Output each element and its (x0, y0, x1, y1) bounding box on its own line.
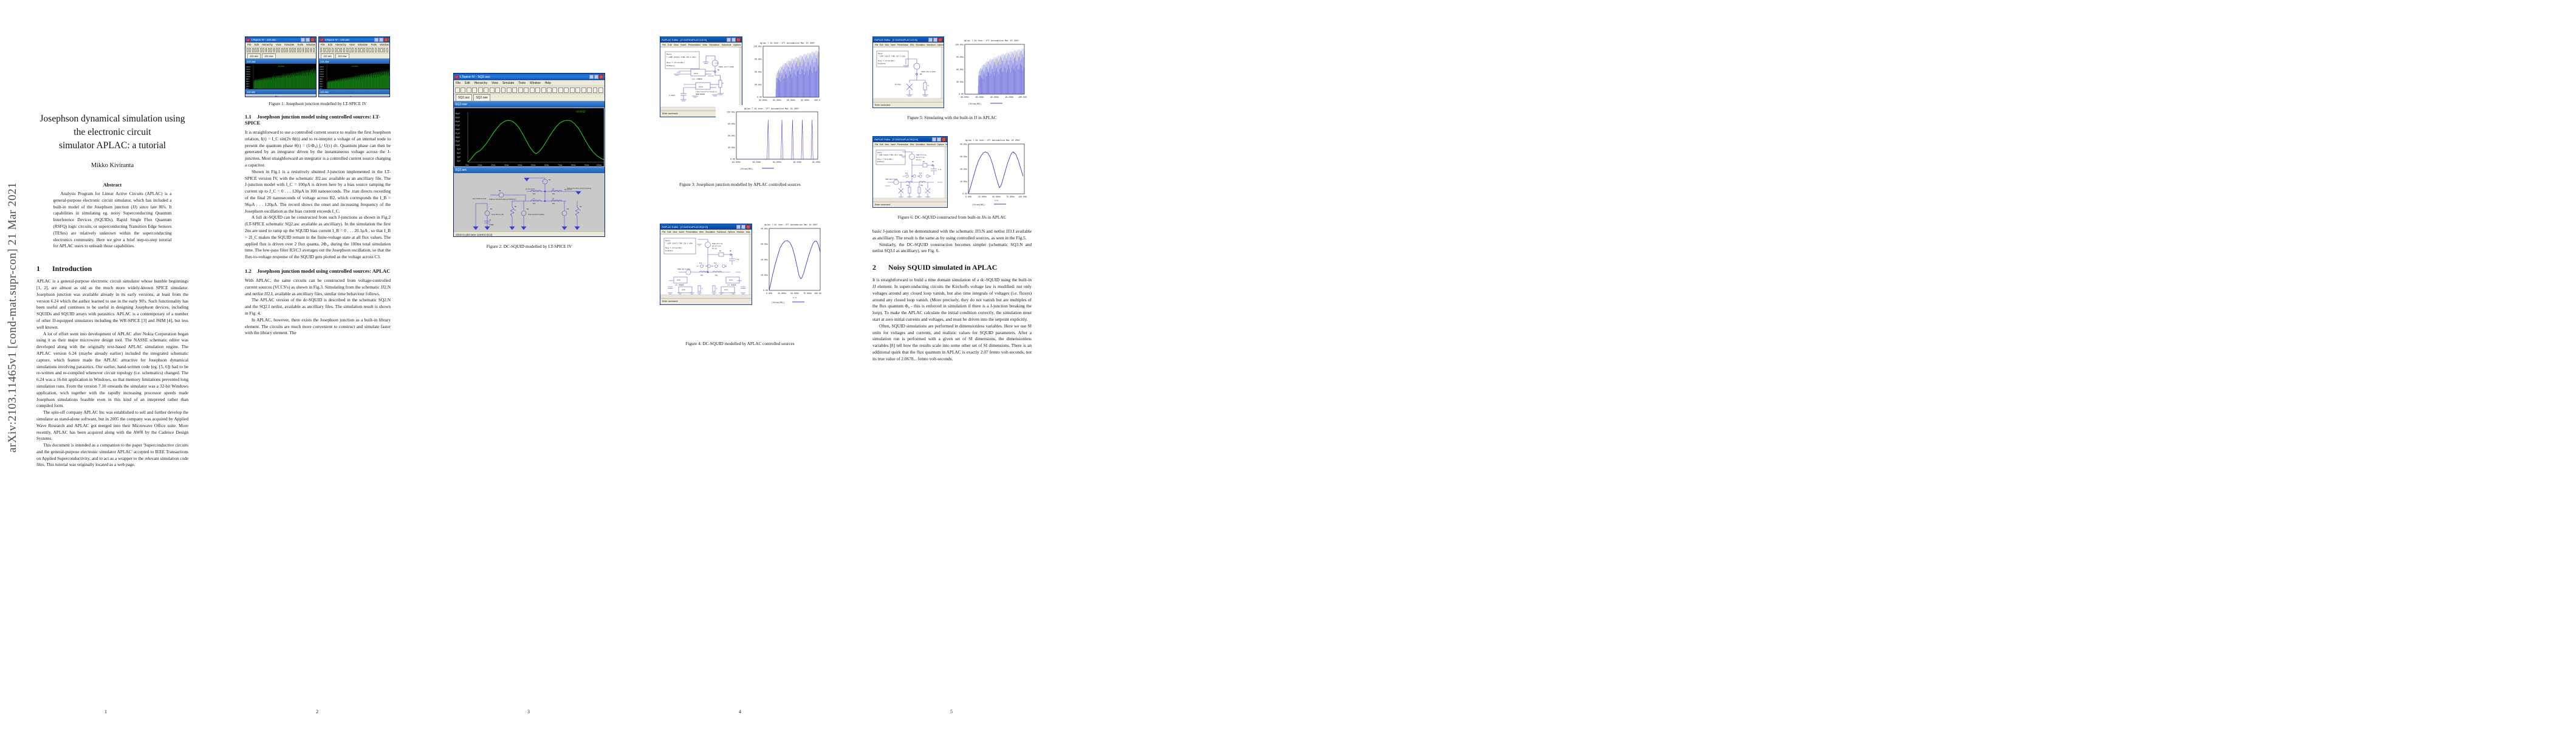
plot-pane-titlebar[interactable]: SQ2.raw (454, 101, 605, 108)
schematic-drawing: Sweep " LOOP 131072 TIME LIN 0 100n Show… (660, 234, 752, 298)
menu-presentation[interactable]: Presentation (686, 231, 697, 233)
copy-icon[interactable] (366, 48, 368, 52)
tile-vertical-icon[interactable] (530, 87, 535, 93)
menu-edit[interactable]: Edit (668, 44, 671, 46)
grid-icon[interactable] (276, 48, 278, 52)
schematic-canvas-aplac-sq2[interactable]: Sweep " LOOP 131072 TIME LIN 0 100n Show… (660, 234, 752, 298)
pdf-thumbnail-viewer[interactable]: arXiv:2103.11465v1 [cond-mat.supr-con] 2… (0, 0, 2576, 729)
menu-simulation[interactable]: Simulation (916, 44, 925, 46)
aplac-plot-jj-full[interactable]: Aplac 7.61 User: VTT Automation Mar 10 2… (747, 39, 820, 114)
window-controls[interactable] (928, 38, 942, 42)
menu-subcircuit[interactable]: Subcircuit (927, 143, 935, 146)
capacitor-icon[interactable] (386, 48, 388, 52)
zoom-in-icon[interactable] (337, 48, 339, 52)
tile-horizontal-icon[interactable] (355, 48, 357, 52)
menu-wire[interactable]: Wire (702, 44, 707, 46)
maximize-button[interactable] (306, 38, 310, 42)
svg-text:0.00: 0.00 (962, 193, 967, 195)
copy-icon[interactable] (547, 87, 552, 93)
ltspice-window-jj2-a[interactable]: LT LTspice IV - JJ2.asc File Edit Hierar… (245, 36, 317, 97)
plot-title: Aplac 7.61 User: VTT Automation Mar 10 2… (965, 139, 1020, 142)
menu-view[interactable]: View (276, 43, 281, 46)
svg-text:0.000: 0.000 (965, 196, 971, 198)
aplac-plot-squid[interactable]: Aplac 7.61 User: VTT Automation Mar 10 2… (753, 221, 821, 309)
svg-text:" LOOP 131072 TIME LIN 0 100n: " LOOP 131072 TIME LIN 0 100n (877, 154, 903, 156)
menu-wire[interactable]: Wire (699, 231, 704, 233)
squid-response-trace (968, 152, 1023, 194)
menu-presentation[interactable]: Presentation (688, 44, 701, 46)
zoom-out-icon[interactable] (495, 87, 500, 93)
schematic-canvas-aplac-jj2[interactable]: Sweep " LOOP 131072 TIME LIN 0 100n Show… (660, 47, 742, 111)
open-folder-icon[interactable] (323, 48, 325, 52)
page-number: 5 (846, 709, 1057, 714)
svg-text:Show T (Vtran(N0)): Show T (Vtran(N0)) (666, 61, 685, 64)
print-preview-icon[interactable] (375, 48, 377, 52)
window-titlebar[interactable]: A APLAC Editor - [C:\DATA\APLAC\SQ3.N] (873, 137, 947, 142)
svg-text:" LOOP 131072 TIME LIN 0 100n: " LOOP 131072 TIME LIN 0 100n (878, 55, 906, 58)
svg-text:0.00: 0.00 (763, 289, 768, 292)
window-title-text: APLAC Editor - [C:\DATA\APLAC\JJ2.N] (663, 38, 707, 41)
close-button[interactable] (736, 38, 741, 42)
svg-text:80.000n: 80.000n (759, 99, 767, 101)
svg-text:B6: B6 (499, 190, 501, 192)
svg-text:30µV: 30µV (455, 120, 461, 123)
maximize-button[interactable] (741, 225, 745, 229)
zoom-area-icon[interactable] (501, 87, 506, 93)
aplac-plot-jj-zoom[interactable]: Aplac 7.61 User: VTT Automation Mar 10 2… (716, 105, 820, 172)
svg-text:20.1u): 20.1u) (916, 159, 921, 161)
svg-text:50p: 50p (552, 193, 555, 195)
menu-view[interactable]: View (673, 231, 677, 233)
menu-options[interactable]: Options (937, 143, 944, 146)
plot-canvas: Aplac 7.61 User: VTT Automation Mar 10 2… (716, 105, 820, 172)
menu-file[interactable]: File (875, 143, 878, 146)
window-controls[interactable] (301, 38, 315, 42)
status-text: Click to plot wire current I(C3) (456, 233, 493, 236)
minimize-button[interactable] (736, 225, 741, 229)
tile-horizontal-icon[interactable] (524, 87, 529, 93)
zoom-fit-icon[interactable] (346, 48, 348, 52)
svg-text:N0: N0 (920, 74, 922, 75)
paragraph: The APLAC version of the dc-SQUID is des… (245, 297, 391, 317)
menu-edit[interactable]: Edit (328, 43, 332, 46)
schematic-pane-title-text: JJ2.asc (247, 91, 255, 94)
svg-text:30.00u: 30.00u (956, 81, 964, 83)
open-folder-icon[interactable] (461, 87, 465, 93)
tab-sq2-asc[interactable]: SQ2.asc (456, 94, 472, 101)
menu-tools[interactable]: Tools (518, 81, 526, 85)
menu-view[interactable]: View (674, 44, 679, 46)
section-title: Introduction (52, 264, 92, 273)
inductor-icon[interactable] (593, 87, 598, 93)
svg-text:EndSweep: EndSweep (878, 63, 886, 65)
schematic-pane-titlebar[interactable]: JJ2.asc (245, 89, 316, 94)
toolbar[interactable] (245, 47, 316, 53)
minimize-button[interactable] (928, 38, 933, 42)
figure-1-caption: Figure 1: Josephson junction modelled by… (245, 101, 391, 106)
window-titlebar[interactable]: A APLAC Editor - [C:\DATA\APLAC\SQ2.N] (660, 224, 752, 230)
toolbar[interactable] (319, 47, 389, 53)
menubar[interactable]: File Edit View Insert Presentation Wire … (873, 43, 944, 47)
svg-text:50p: 50p (533, 202, 536, 205)
zoom-fit-icon[interactable] (270, 48, 272, 52)
menu-simulate[interactable]: Simulate (358, 43, 368, 46)
menu-file[interactable]: File (247, 43, 252, 46)
page-3[interactable]: LT LTspice IV - SQ2.asc File Edit Hierar… (423, 0, 634, 729)
menu-help[interactable]: Help (746, 231, 750, 233)
menu-help[interactable]: Help (545, 81, 551, 85)
svg-text:R2: R2 (580, 205, 582, 208)
menu-file[interactable]: File (662, 231, 665, 233)
window-titlebar[interactable]: LT LTspice IV - JJ2.asc (245, 37, 316, 43)
window-controls[interactable] (727, 38, 741, 42)
schematic-canvas-aplac-jj3[interactable]: Sweep " LOOP 131072 TIME LIN 0 100n Show… (873, 47, 944, 102)
ground-icon[interactable] (383, 48, 385, 52)
new-file-icon[interactable] (247, 48, 248, 52)
menu-edit[interactable]: Edit (255, 43, 259, 46)
close-button[interactable] (938, 38, 942, 42)
resistor-icon[interactable] (575, 87, 580, 93)
maximize-button[interactable] (933, 38, 937, 42)
menu-file[interactable]: File (875, 44, 878, 46)
menu-hierarchy[interactable]: Hierarchy (262, 43, 273, 46)
paste-icon[interactable] (292, 48, 293, 52)
label-icon[interactable] (273, 48, 275, 52)
resistor-icon[interactable] (303, 48, 304, 52)
run-icon[interactable] (257, 48, 259, 52)
minimize-button[interactable] (589, 75, 594, 79)
abstract-body: Analysis Program for Linear Active Circu… (53, 191, 172, 248)
svg-text:85.000n: 85.000n (976, 96, 984, 98)
menubar[interactable]: File Edit View Insert Presentation Wire … (660, 43, 742, 47)
svg-text:L2: L2 (552, 197, 554, 200)
cut-icon[interactable] (286, 48, 288, 52)
save-icon[interactable] (252, 48, 254, 52)
diode-icon[interactable] (313, 48, 315, 52)
svg-text:Show T (Vtran(N0)): Show T (Vtran(N0)) (878, 60, 895, 62)
menu-simulation[interactable]: Simulation (916, 143, 925, 146)
find-icon[interactable] (372, 48, 374, 52)
svg-text:Show T (Vtran(N0)): Show T (Vtran(N0)) (665, 247, 682, 249)
zoom-area-icon[interactable] (343, 48, 345, 52)
schematic-canvas-jj[interactable]: .tran 0 100n 0 0.5p I=v(n,JP)-V(n,JN) I=… (245, 94, 316, 97)
tab-jj2-raw[interactable]: JJ2.raw (335, 53, 349, 58)
menu-view[interactable]: View (885, 44, 889, 46)
svg-text:L3: L3 (533, 188, 535, 190)
zoom-out-icon[interactable] (265, 48, 267, 52)
grid-icon[interactable] (352, 48, 354, 52)
window-titlebar[interactable]: LT LTspice IV - JJ2.asc (319, 37, 389, 43)
menu-view[interactable]: View (492, 81, 498, 85)
plot-pane-titlebar[interactable]: JJ2.raw (245, 59, 316, 64)
menu-edit[interactable]: Edit (465, 81, 470, 85)
josephson-pulse-trace (736, 120, 818, 159)
menubar[interactable]: File Edit Hierarchy View Simulate Tools … (319, 43, 389, 47)
menu-options[interactable]: Options (733, 44, 741, 46)
menu-hierarchy[interactable]: Hierarchy (474, 81, 487, 85)
waveform-plot-jj-zoom[interactable]: V(n002) 180µV160µV 140µV120µV 100µV80µV … (319, 64, 389, 89)
plot-canvas: Aplac 7.61 User: VTT Automation Mar 10 2… (753, 221, 821, 309)
menu-simulate[interactable]: Simulate (284, 43, 294, 46)
menu-insert[interactable]: Insert (679, 231, 684, 233)
page-1[interactable]: arXiv:2103.11465v1 [cond-mat.supr-con] 2… (0, 0, 211, 729)
svg-text:1.4p: 1.4p (938, 169, 942, 171)
document-tabs[interactable]: JJ2.asc JJ2.raw (245, 53, 316, 59)
save-icon[interactable] (326, 48, 327, 52)
toolbar[interactable] (454, 86, 605, 94)
tile-vertical-icon[interactable] (358, 48, 360, 52)
hierarchy-icon[interactable] (472, 87, 477, 93)
cut-icon[interactable] (363, 48, 365, 52)
menu-hierarchy[interactable]: Hierarchy (335, 43, 346, 46)
tab-jj2-asc[interactable]: JJ2.asc (247, 53, 261, 58)
menu-subcircuit[interactable]: Subcircuit (722, 44, 731, 46)
aplac-editor-jj3[interactable]: A APLAC Editor - [C:\DATA\APLAC\JJ3.N] F… (872, 36, 944, 108)
waveform-plot-jj[interactable]: V(n002) 180µV160µV 140µV120µV 100µV80µV … (245, 64, 316, 89)
menu-wire[interactable]: Wire (910, 44, 914, 46)
statusbar: Click to plot wire current I(C3) (454, 231, 605, 237)
print-preview-icon[interactable] (564, 87, 569, 93)
menu-window[interactable]: Window (380, 43, 389, 46)
svg-text:C1: C1 (489, 219, 492, 221)
halt-icon[interactable] (335, 48, 337, 52)
svg-text:" LOOP 131072 TIME LIN 0 100n: " LOOP 131072 TIME LIN 0 100n (666, 56, 696, 58)
document-tabs[interactable]: JJ2.asc JJ2.raw (319, 53, 389, 59)
svg-text:10.00u: 10.00u (761, 274, 768, 276)
menu-simulation[interactable]: Simulation (705, 231, 715, 233)
menu-view[interactable]: View (349, 43, 355, 46)
svg-text:90.000n: 90.000n (990, 96, 999, 98)
window-controls[interactable] (374, 38, 388, 42)
open-folder-icon[interactable] (249, 48, 251, 52)
label-icon[interactable] (349, 48, 351, 52)
menu-window[interactable]: Window (737, 231, 744, 233)
find-icon[interactable] (558, 87, 563, 93)
ground-icon[interactable] (305, 48, 307, 52)
menu-presentation[interactable]: Presentation (897, 143, 909, 146)
resistor-icon[interactable] (380, 48, 382, 52)
cascade-icon[interactable] (284, 48, 286, 52)
hierarchy-icon[interactable] (255, 48, 256, 52)
menu-edit[interactable]: Edit (667, 231, 671, 233)
plot-pane-title-text: JJ2.raw (320, 60, 329, 63)
window-controls[interactable] (736, 225, 750, 229)
menu-insert[interactable]: Insert (891, 44, 896, 46)
svg-text:120µV: 120µV (246, 74, 250, 75)
maximize-button[interactable] (594, 75, 598, 79)
menubar[interactable]: File Edit View Insert Presentation Wire … (660, 230, 752, 234)
svg-text:2.068f: 2.068f (669, 94, 675, 97)
svg-text:0µV: 0µV (457, 160, 461, 162)
minimize-button[interactable] (727, 38, 731, 42)
print-icon[interactable] (378, 48, 380, 52)
find-icon[interactable] (294, 48, 296, 52)
window-titlebar[interactable]: A APLAC Editor - [C:\DATA\APLAC\JJ2.N] (660, 37, 742, 43)
run-icon[interactable] (332, 48, 334, 52)
menubar[interactable]: File Edit Hierarchy View Simulate Tools … (245, 43, 316, 47)
svg-text:50ns: 50ns (531, 164, 536, 166)
minimize-button[interactable] (301, 38, 305, 42)
maximize-button[interactable] (731, 38, 736, 42)
menu-edit[interactable]: Edit (880, 143, 883, 146)
svg-text:Sweep: Sweep (878, 53, 883, 55)
zoom-in-icon[interactable] (262, 48, 264, 52)
menu-window[interactable]: Window (530, 81, 541, 85)
svg-text:60.00u: 60.00u (956, 69, 964, 71)
close-button[interactable] (942, 137, 946, 142)
plot-pane-titlebar[interactable]: JJ2.raw (319, 59, 389, 64)
arxiv-stamp: arXiv:2103.11465v1 [cond-mat.supr-con] 2… (6, 182, 19, 453)
aplac-editor-sq3[interactable]: A APLAC Editor - [C:\DATA\APLAC\SQ3.N] F… (872, 136, 948, 208)
menubar[interactable]: File Edit Hierarchy View Simulate Tools … (454, 80, 605, 86)
tile-vertical-icon[interactable] (281, 48, 283, 52)
close-button[interactable] (384, 38, 388, 42)
page-2[interactable]: LT LTspice IV - JJ2.asc File Edit Hierar… (211, 0, 423, 729)
menu-insert[interactable]: Insert (680, 44, 686, 46)
diode-icon[interactable] (598, 87, 603, 93)
cascade-icon[interactable] (535, 87, 540, 93)
close-button[interactable] (599, 75, 603, 79)
halt-icon[interactable] (260, 48, 262, 52)
menu-edit[interactable]: Edit (880, 44, 883, 46)
svg-text:Sweep: Sweep (877, 152, 882, 154)
menu-file[interactable]: File (321, 43, 325, 46)
aplac-editor-sq2[interactable]: A APLAC Editor - [C:\DATA\APLAC\SQ2.N] F… (660, 224, 752, 305)
maximize-button[interactable] (379, 38, 383, 42)
statusbar: Enter command (873, 202, 947, 207)
svg-text:TRAN 12u*t/100n: TRAN 12u*t/100n (719, 66, 734, 68)
page-4[interactable]: A APLAC Editor - [C:\DATA\APLAC\JJ2.N] F… (634, 0, 846, 729)
svg-text:50p: 50p (552, 202, 555, 205)
new-file-icon[interactable] (455, 87, 460, 93)
plot-title: Aplac 7.61 User: VTT Automation Mar 10 2… (764, 224, 818, 227)
tab-sq2-raw[interactable]: SQ2.raw (473, 94, 490, 101)
author: Mikko Kiviranta (36, 162, 188, 169)
menu-simulation[interactable]: Simulation (709, 44, 719, 46)
x-axis-ticks: 80.000n85.000n 90.000n95.000n 100.000n (759, 99, 820, 101)
svg-text:100µV: 100µV (320, 76, 324, 78)
y-axis-ticks: 120.00u90.00u 60.00u30.00u 0.00 (753, 46, 762, 99)
menu-wire[interactable]: Wire (910, 143, 914, 146)
svg-text:I=10u*sin(2*pi*V(nPH)): I=10u*sin(2*pi*V(nPH)) (528, 213, 544, 216)
copy-icon[interactable] (289, 48, 291, 52)
tile-horizontal-icon[interactable] (278, 48, 280, 52)
menu-simulate[interactable]: Simulate (502, 81, 514, 85)
figure-4: A APLAC Editor - [C:\DATA\APLAC\SQ2.N] F… (660, 224, 820, 333)
menu-file[interactable]: File (662, 44, 666, 46)
grid-icon[interactable] (518, 87, 523, 93)
close-button[interactable] (310, 38, 315, 42)
halt-icon[interactable] (484, 87, 488, 93)
ground-icon[interactable] (581, 87, 586, 93)
tab-jj2-asc[interactable]: JJ2.asc (321, 53, 334, 58)
run-icon[interactable] (478, 87, 483, 93)
ltspice-window-jj2-b[interactable]: LT LTspice IV - JJ2.asc File Edit Hierar… (318, 36, 390, 97)
paste-icon[interactable] (369, 48, 371, 52)
tab-jj2-raw[interactable]: JJ2.raw (262, 53, 275, 58)
menu-options[interactable]: Options (728, 231, 735, 233)
minimize-button[interactable] (932, 137, 936, 142)
menu-subcircuit[interactable]: Subcircuit (927, 44, 935, 46)
menu-file[interactable]: File (456, 81, 461, 85)
window-titlebar[interactable]: LT LTspice IV - SQ2.asc (454, 74, 605, 80)
svg-text:30.00u: 30.00u (761, 243, 768, 245)
svg-text:40.00u: 40.00u (761, 228, 768, 230)
squid-response-trace (769, 241, 820, 290)
subsection-number: 1.2 (245, 268, 257, 274)
status-text: Enter command (662, 112, 677, 115)
aplac-plot-builtin-jj[interactable]: Aplac 7.61 User: VTT Automation Mar 10 2… (948, 36, 1027, 109)
capacitor-icon[interactable] (587, 87, 592, 93)
print-preview-icon[interactable] (297, 48, 299, 52)
menu-window[interactable]: Window (945, 143, 947, 146)
menu-view[interactable]: View (885, 143, 889, 146)
window-controls[interactable] (932, 137, 946, 142)
status-text: Enter command (662, 300, 677, 303)
window-controls[interactable] (589, 75, 603, 79)
schematic-pane-titlebar[interactable]: JJ2.asc (319, 89, 389, 94)
schematic-pane-titlebar[interactable]: SQ2.asc (454, 167, 605, 173)
zoom-out-icon[interactable] (340, 48, 342, 52)
menubar[interactable]: File Edit View Insert Presentation Wire … (873, 142, 947, 147)
schematic-canvas-jj-b[interactable]: .tran 0 100n 0 0.5p I=v(n,JP)-V(n,JN) I=… (319, 94, 389, 97)
schematic-drawing: Sweep " LOOP 131072 TIME LIN 0 100n Show… (873, 147, 947, 202)
aplac-plot-builtin-squid[interactable]: Aplac 7.61 User: VTT Automation Mar 10 2… (951, 136, 1027, 209)
svg-text:TRAN 40u*t/100n: TRAN 40u*t/100n (885, 179, 898, 180)
subsection-title: Josephson junction model using controlle… (245, 114, 380, 126)
zoom-fit-icon[interactable] (507, 87, 512, 93)
window-titlebar[interactable]: A APLAC Editor - [C:\DATA\APLAC\JJ3.N] (873, 37, 944, 43)
schematic-labels: B3 I=if(time<2n,20.1u,20.1u*(time/1n)) K… (472, 179, 591, 226)
menu-window[interactable]: Window (306, 43, 315, 46)
hierarchy-icon[interactable] (329, 48, 331, 52)
close-button[interactable] (746, 225, 750, 229)
menu-tools[interactable]: Tools (371, 43, 377, 46)
svg-text:85.000n: 85.000n (773, 99, 781, 101)
save-icon[interactable] (467, 87, 471, 93)
waveform-plot-squid[interactable]: V(n002) 36µV33µV 30µV27µV 24µV21µV 18µV1… (454, 108, 605, 167)
ltspice-window-sq2[interactable]: LT LTspice IV - SQ2.asc File Edit Hierar… (453, 73, 605, 237)
print-icon[interactable] (300, 48, 301, 52)
page-5[interactable]: A APLAC Editor - [C:\DATA\APLAC\JJ3.N] F… (846, 0, 1057, 729)
svg-text:36µV: 36µV (455, 112, 461, 115)
minimize-button[interactable] (374, 38, 379, 42)
menu-options[interactable]: Options (937, 44, 944, 46)
capacitor-icon[interactable] (307, 48, 309, 52)
new-file-icon[interactable] (320, 48, 322, 52)
schematic-canvas-squid[interactable]: B3 I=if(time<2n,20.1u,20.1u*(time/1n)) K… (454, 173, 605, 231)
cut-icon[interactable] (541, 87, 546, 93)
menu-tools[interactable]: Tools (297, 43, 303, 46)
inductor-icon[interactable] (310, 48, 312, 52)
svg-text:95.000n: 95.000n (801, 99, 809, 101)
menu-subcircuit[interactable]: Subcircuit (717, 231, 726, 233)
print-icon[interactable] (570, 87, 575, 93)
trace-legend: V(n002) (576, 110, 586, 113)
zoom-area-icon[interactable] (268, 48, 270, 52)
zoom-in-icon[interactable] (490, 87, 495, 93)
document-tabs[interactable]: SQ2.asc SQ2.raw (454, 94, 605, 101)
subsection-title: Josephson junction model using controlle… (257, 268, 390, 274)
schematic-canvas-aplac-sq3[interactable]: Sweep " LOOP 131072 TIME LIN 0 100n Show… (873, 147, 947, 202)
paste-icon[interactable] (552, 87, 557, 93)
maximize-button[interactable] (937, 137, 941, 142)
label-icon[interactable] (512, 87, 517, 93)
svg-text:83.000n: 83.000n (732, 161, 741, 163)
menu-insert[interactable]: Insert (891, 143, 896, 146)
menu-presentation[interactable]: Presentation (897, 44, 909, 46)
cascade-icon[interactable] (360, 48, 362, 52)
